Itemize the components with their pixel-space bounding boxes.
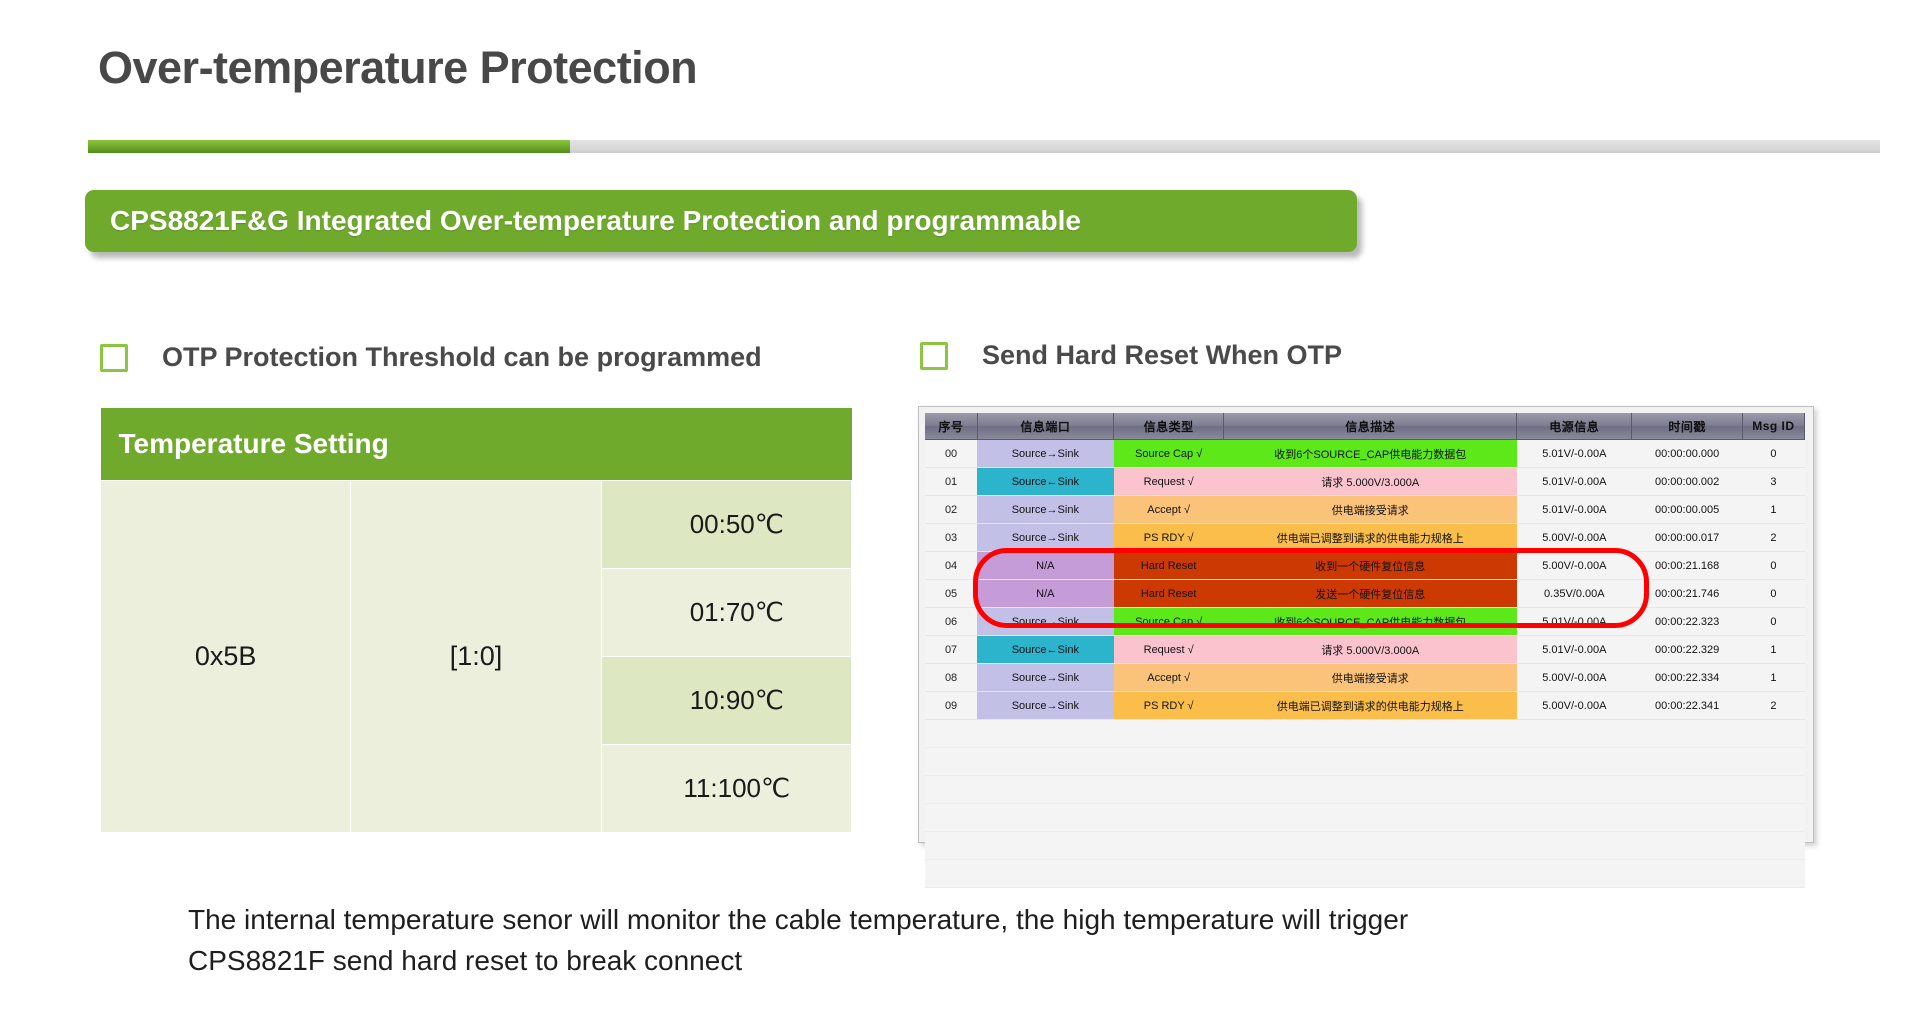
table-row[interactable]: 00Source→SinkSource Cap √收到6个SOURCE_CAP供… — [925, 440, 1805, 468]
cell-empty — [1224, 804, 1517, 832]
cell-description: 请求 5.000V/3.000A — [1224, 468, 1517, 496]
cell-empty — [977, 832, 1113, 860]
temperature-setting-table: Temperature Setting 0x5B [1:0] 00:50℃ 01… — [100, 408, 852, 833]
column-header-power[interactable]: 电源信息 — [1517, 413, 1632, 440]
table-row[interactable]: 03Source→SinkPS RDY √供电端已调整到请求的供电能力规格上5.… — [925, 524, 1805, 552]
footer-note: The internal temperature senor will moni… — [188, 900, 1748, 981]
column-header-port[interactable]: 信息端口 — [977, 413, 1113, 440]
square-outline-icon — [920, 342, 948, 370]
cell-empty — [1742, 720, 1804, 748]
section-banner: CPS8821F&G Integrated Over-temperature P… — [85, 190, 1357, 252]
cell-empty — [1114, 860, 1224, 888]
temperature-option-cell: 00:50℃ — [601, 481, 851, 569]
cell-empty — [1517, 860, 1632, 888]
cell-type: Request √ — [1114, 468, 1224, 496]
cell-port: N/A — [977, 552, 1113, 580]
cell-index: 09 — [925, 692, 977, 720]
cell-timestamp: 00:00:22.323 — [1632, 608, 1742, 636]
cell-empty — [1224, 748, 1517, 776]
cell-msgid: 3 — [1742, 468, 1804, 496]
cell-description: 收到6个SOURCE_CAP供电能力数据包 — [1224, 440, 1517, 468]
cell-empty — [925, 832, 977, 860]
table-row[interactable]: 04N/AHard Reset收到一个硬件复位信息5.00V/-0.00A00:… — [925, 552, 1805, 580]
bullet-hard-reset: Send Hard Reset When OTP — [920, 340, 1342, 371]
cell-msgid: 1 — [1742, 496, 1804, 524]
cell-power: 5.01V/-0.00A — [1517, 608, 1632, 636]
cell-index: 03 — [925, 524, 977, 552]
column-header-description[interactable]: 信息描述 — [1224, 413, 1517, 440]
cell-type: Accept √ — [1114, 496, 1224, 524]
cell-description: 请求 5.000V/3.000A — [1224, 636, 1517, 664]
cell-empty — [1517, 720, 1632, 748]
cell-empty — [1224, 776, 1517, 804]
table-row-empty — [925, 804, 1805, 832]
cell-empty — [925, 748, 977, 776]
cell-type: Source Cap √ — [1114, 440, 1224, 468]
cell-empty — [1632, 804, 1742, 832]
title-divider — [88, 140, 1880, 153]
cell-power: 5.01V/-0.00A — [1517, 440, 1632, 468]
cell-power: 5.00V/-0.00A — [1517, 552, 1632, 580]
table-row[interactable]: 02Source→SinkAccept √供电端接受请求5.01V/-0.00A… — [925, 496, 1805, 524]
column-header-msgid[interactable]: Msg ID — [1742, 413, 1804, 440]
table-row-empty — [925, 720, 1805, 748]
table-header-row: Temperature Setting — [101, 408, 852, 481]
cell-type: PS RDY √ — [1114, 524, 1224, 552]
table-row[interactable]: 09Source→SinkPS RDY √供电端已调整到请求的供电能力规格上5.… — [925, 692, 1805, 720]
cell-empty — [1632, 776, 1742, 804]
cell-msgid: 1 — [1742, 664, 1804, 692]
cell-msgid: 1 — [1742, 636, 1804, 664]
cell-empty — [1114, 748, 1224, 776]
cell-description: 供电端接受请求 — [1224, 664, 1517, 692]
cell-port: Source→Sink — [977, 692, 1113, 720]
cell-msgid: 2 — [1742, 524, 1804, 552]
temperature-option-cell: 11:100℃ — [601, 745, 851, 833]
footer-note-line-2: CPS8821F send hard reset to break connec… — [188, 941, 1748, 982]
cell-index: 08 — [925, 664, 977, 692]
table-row[interactable]: 06Source→SinkSource Cap √收到6个SOURCE_CAP供… — [925, 608, 1805, 636]
cell-power: 5.01V/-0.00A — [1517, 496, 1632, 524]
protocol-analyzer-panel: 序号 信息端口 信息类型 信息描述 电源信息 时间戳 Msg ID 00Sour… — [918, 406, 1814, 843]
cell-empty — [925, 776, 977, 804]
square-outline-icon — [100, 344, 128, 372]
cell-index: 05 — [925, 580, 977, 608]
column-header-index[interactable]: 序号 — [925, 413, 977, 440]
cell-port: N/A — [977, 580, 1113, 608]
cell-port: Source→Sink — [977, 524, 1113, 552]
cell-empty — [1742, 804, 1804, 832]
register-address-cell: 0x5B — [101, 481, 351, 833]
cell-type: Request √ — [1114, 636, 1224, 664]
cell-index: 07 — [925, 636, 977, 664]
cell-empty — [977, 776, 1113, 804]
cell-empty — [1517, 776, 1632, 804]
temperature-table-title: Temperature Setting — [101, 408, 852, 481]
cell-port: Source→Sink — [977, 608, 1113, 636]
bullet-otp-threshold-label: OTP Protection Threshold can be programm… — [162, 342, 762, 373]
cell-timestamp: 00:00:00.017 — [1632, 524, 1742, 552]
temperature-option-cell: 01:70℃ — [601, 569, 851, 657]
divider-grey-segment — [570, 140, 1880, 153]
cell-empty — [1114, 804, 1224, 832]
cell-power: 0.35V/0.00A — [1517, 580, 1632, 608]
bullet-otp-threshold: OTP Protection Threshold can be programm… — [100, 342, 762, 373]
table-row-empty — [925, 748, 1805, 776]
cell-empty — [1632, 720, 1742, 748]
table-row-empty — [925, 860, 1805, 888]
cell-type: PS RDY √ — [1114, 692, 1224, 720]
cell-index: 02 — [925, 496, 977, 524]
cell-type: Hard Reset — [1114, 580, 1224, 608]
cell-port: Source→Sink — [977, 496, 1113, 524]
table-row: 0x5B [1:0] 00:50℃ — [101, 481, 852, 569]
cell-empty — [925, 720, 977, 748]
bullet-hard-reset-label: Send Hard Reset When OTP — [982, 340, 1342, 371]
cell-timestamp: 00:00:21.746 — [1632, 580, 1742, 608]
cell-power: 5.01V/-0.00A — [1517, 636, 1632, 664]
cell-timestamp: 00:00:00.000 — [1632, 440, 1742, 468]
cell-empty — [1742, 748, 1804, 776]
cell-port: Source←Sink — [977, 636, 1113, 664]
cell-description: 供电端已调整到请求的供电能力规格上 — [1224, 692, 1517, 720]
protocol-table-header-row: 序号 信息端口 信息类型 信息描述 电源信息 时间戳 Msg ID — [925, 413, 1805, 440]
cell-empty — [1224, 832, 1517, 860]
cell-type: Source Cap √ — [1114, 608, 1224, 636]
cell-empty — [977, 748, 1113, 776]
cell-msgid: 0 — [1742, 608, 1804, 636]
cell-empty — [1742, 776, 1804, 804]
cell-msgid: 0 — [1742, 552, 1804, 580]
cell-empty — [1114, 720, 1224, 748]
table-row[interactable]: 07Source←SinkRequest √请求 5.000V/3.000A5.… — [925, 636, 1805, 664]
cell-description: 发送一个硬件复位信息 — [1224, 580, 1517, 608]
cell-index: 04 — [925, 552, 977, 580]
cell-empty — [977, 720, 1113, 748]
cell-power: 5.00V/-0.00A — [1517, 524, 1632, 552]
column-header-type[interactable]: 信息类型 — [1114, 413, 1224, 440]
cell-empty — [1632, 748, 1742, 776]
cell-empty — [1742, 860, 1804, 888]
cell-description: 收到6个SOURCE_CAP供电能力数据包 — [1224, 608, 1517, 636]
table-row-empty — [925, 832, 1805, 860]
table-row-empty — [925, 776, 1805, 804]
cell-power: 5.00V/-0.00A — [1517, 692, 1632, 720]
temperature-option-cell: 10:90℃ — [601, 657, 851, 745]
cell-timestamp: 00:00:00.005 — [1632, 496, 1742, 524]
cell-index: 00 — [925, 440, 977, 468]
cell-empty — [1224, 720, 1517, 748]
cell-empty — [925, 860, 977, 888]
cell-port: Source→Sink — [977, 440, 1113, 468]
cell-port: Source→Sink — [977, 664, 1113, 692]
cell-msgid: 2 — [1742, 692, 1804, 720]
cell-timestamp: 00:00:21.168 — [1632, 552, 1742, 580]
cell-timestamp: 00:00:00.002 — [1632, 468, 1742, 496]
cell-index: 01 — [925, 468, 977, 496]
cell-empty — [1632, 832, 1742, 860]
cell-empty — [1517, 804, 1632, 832]
cell-description: 收到一个硬件复位信息 — [1224, 552, 1517, 580]
cell-msgid: 0 — [1742, 580, 1804, 608]
cell-type: Accept √ — [1114, 664, 1224, 692]
cell-empty — [1742, 832, 1804, 860]
section-banner-label: CPS8821F&G Integrated Over-temperature P… — [85, 205, 1081, 237]
protocol-table-body: 00Source→SinkSource Cap √收到6个SOURCE_CAP供… — [925, 440, 1805, 888]
column-header-timestamp[interactable]: 时间戳 — [1632, 413, 1742, 440]
cell-empty — [1517, 832, 1632, 860]
footer-note-line-1: The internal temperature senor will moni… — [188, 900, 1748, 941]
cell-empty — [977, 804, 1113, 832]
cell-index: 06 — [925, 608, 977, 636]
cell-timestamp: 00:00:22.329 — [1632, 636, 1742, 664]
table-row[interactable]: 08Source→SinkAccept √供电端接受请求5.00V/-0.00A… — [925, 664, 1805, 692]
cell-port: Source←Sink — [977, 468, 1113, 496]
cell-empty — [977, 860, 1113, 888]
table-row[interactable]: 01Source←SinkRequest √请求 5.000V/3.000A5.… — [925, 468, 1805, 496]
cell-description: 供电端已调整到请求的供电能力规格上 — [1224, 524, 1517, 552]
cell-empty — [1224, 860, 1517, 888]
cell-power: 5.01V/-0.00A — [1517, 468, 1632, 496]
divider-green-segment — [88, 140, 570, 153]
cell-timestamp: 00:00:22.341 — [1632, 692, 1742, 720]
page-title: Over-temperature Protection — [98, 42, 697, 94]
protocol-message-table: 序号 信息端口 信息类型 信息描述 电源信息 时间戳 Msg ID 00Sour… — [925, 413, 1805, 888]
cell-description: 供电端接受请求 — [1224, 496, 1517, 524]
cell-empty — [1114, 776, 1224, 804]
cell-type: Hard Reset — [1114, 552, 1224, 580]
cell-empty — [1114, 832, 1224, 860]
table-row[interactable]: 05N/AHard Reset发送一个硬件复位信息0.35V/0.00A00:0… — [925, 580, 1805, 608]
cell-empty — [1517, 748, 1632, 776]
cell-power: 5.00V/-0.00A — [1517, 664, 1632, 692]
cell-empty — [1632, 860, 1742, 888]
bitfield-cell: [1:0] — [351, 481, 601, 833]
cell-timestamp: 00:00:22.334 — [1632, 664, 1742, 692]
cell-msgid: 0 — [1742, 440, 1804, 468]
cell-empty — [925, 804, 977, 832]
